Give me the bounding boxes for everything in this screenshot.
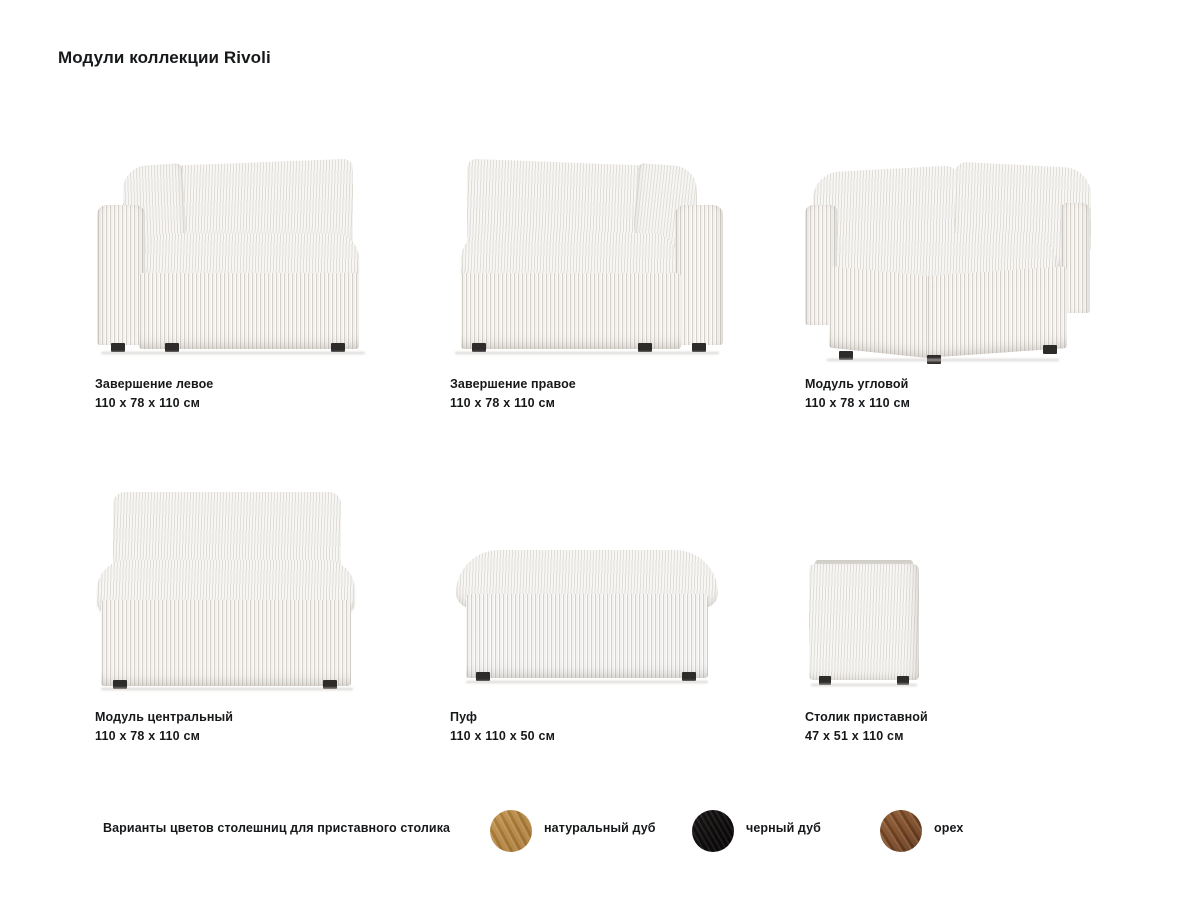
module-card-corner[interactable]: Модуль угловой 110 x 78 x 110 см <box>805 155 1095 370</box>
module-dimensions: 110 x 110 x 50 см <box>450 729 555 744</box>
module-caption: Столик приставной 47 x 51 x 110 см <box>805 710 928 744</box>
module-caption: Модуль угловой 110 x 78 x 110 см <box>805 377 910 411</box>
swatch-walnut-icon[interactable] <box>880 810 922 852</box>
module-name: Модуль центральный <box>95 710 233 725</box>
module-caption: Завершение правое 110 x 78 x 110 см <box>450 377 576 411</box>
module-dimensions: 47 x 51 x 110 см <box>805 729 928 744</box>
module-dimensions: 110 x 78 x 110 см <box>805 396 910 411</box>
module-caption: Завершение левое 110 x 78 x 110 см <box>95 377 213 411</box>
module-name: Пуф <box>450 710 555 725</box>
swatch-label-black-oak: черный дуб <box>746 821 821 835</box>
module-card-left-end[interactable]: Завершение левое 110 x 78 x 110 см <box>95 155 385 370</box>
swatch-black-oak-icon[interactable] <box>692 810 734 852</box>
sofa-right-arm-module-icon <box>450 155 725 365</box>
module-name: Завершение правое <box>450 377 576 392</box>
module-name: Модуль угловой <box>805 377 910 392</box>
module-card-side-table[interactable]: Столик приставной 47 x 51 x 110 см <box>805 488 1095 703</box>
module-caption: Модуль центральный 110 x 78 x 110 см <box>95 710 233 744</box>
sofa-left-arm-module-icon <box>95 155 370 365</box>
module-name: Завершение левое <box>95 377 213 392</box>
swatch-label-walnut: орех <box>934 821 963 835</box>
module-card-ottoman[interactable]: Пуф 110 x 110 x 50 см <box>450 488 740 703</box>
side-table-cube-icon <box>805 488 925 698</box>
module-dimensions: 110 x 78 x 110 см <box>95 396 213 411</box>
module-card-right-end[interactable]: Завершение правое 110 x 78 x 110 см <box>450 155 740 370</box>
modules-grid: Завершение левое 110 x 78 x 110 см Завер… <box>0 0 1200 900</box>
module-card-center[interactable]: Модуль центральный 110 x 78 x 110 см <box>95 488 385 703</box>
sofa-corner-module-icon <box>805 155 1090 365</box>
module-dimensions: 110 x 78 x 110 см <box>95 729 233 744</box>
module-dimensions: 110 x 78 x 110 см <box>450 396 576 411</box>
module-caption: Пуф 110 x 110 x 50 см <box>450 710 555 744</box>
swatch-label-natural-oak: натуральный дуб <box>544 821 656 835</box>
ottoman-pouf-icon <box>450 488 725 698</box>
module-name: Столик приставной <box>805 710 928 725</box>
swatch-natural-oak-icon[interactable] <box>490 810 532 852</box>
sofa-armless-module-icon <box>95 488 360 698</box>
legend-label: Варианты цветов столешниц для приставног… <box>103 821 450 835</box>
